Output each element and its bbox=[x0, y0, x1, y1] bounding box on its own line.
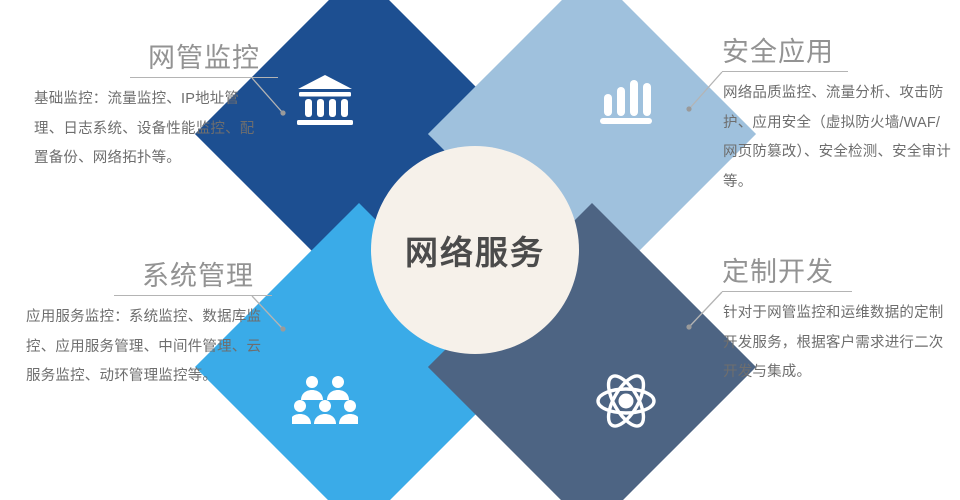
quadrant-body-security-application: 网络品质监控、流量分析、攻击防护、应用安全（虚拟防火墙/WAF/网页防篡改）、安… bbox=[714, 79, 951, 198]
quadrant-title-system-management: 系统管理 bbox=[20, 262, 272, 292]
quadrant-body-custom-development: 针对于网管监控和运维数据的定制开发服务，根据客户需求进行二次开发与集成。 bbox=[714, 299, 951, 389]
title-rule-bottom-right bbox=[722, 291, 852, 292]
quadrant-title-custom-development: 定制开发 bbox=[714, 258, 960, 288]
infographic-diagram: 网络服务 网管监控 基础监控：流量监控、IP地址管理、日志系统、设备性能监控、配… bbox=[0, 0, 960, 500]
text-block-system-management: 系统管理 应用服务监控：系统监控、数据库监控、应用服务管理、中间件管理、云服务监… bbox=[20, 262, 272, 392]
text-block-network-management-monitoring: 网管监控 基础监控：流量监控、IP地址管理、日志系统、设备性能监控、配置备份、网… bbox=[26, 44, 278, 174]
title-rule-top-left bbox=[130, 77, 278, 78]
quadrant-title-security-application: 安全应用 bbox=[714, 38, 960, 68]
title-rule-bottom-left bbox=[114, 295, 272, 296]
quadrant-body-network-management-monitoring: 基础监控：流量监控、IP地址管理、日志系统、设备性能监控、配置备份、网络拓扑等。 bbox=[26, 85, 262, 175]
quadrant-title-network-management-monitoring: 网管监控 bbox=[26, 44, 278, 74]
center-circle: 网络服务 bbox=[371, 146, 579, 354]
center-label: 网络服务 bbox=[405, 226, 545, 274]
atom-icon bbox=[595, 370, 657, 432]
text-block-security-application: 安全应用 网络品质监控、流量分析、攻击防护、应用安全（虚拟防火墙/WAF/网页防… bbox=[714, 38, 960, 198]
bank-building-icon bbox=[295, 73, 355, 127]
people-group-icon bbox=[292, 375, 358, 427]
bar-chart-icon bbox=[598, 74, 654, 126]
text-block-custom-development: 定制开发 针对于网管监控和运维数据的定制开发服务，根据客户需求进行二次开发与集成… bbox=[714, 258, 960, 388]
quadrant-body-system-management: 应用服务监控：系统监控、数据库监控、应用服务管理、中间件管理、云服务监控、动环管… bbox=[20, 303, 266, 393]
title-rule-top-right bbox=[722, 71, 848, 72]
